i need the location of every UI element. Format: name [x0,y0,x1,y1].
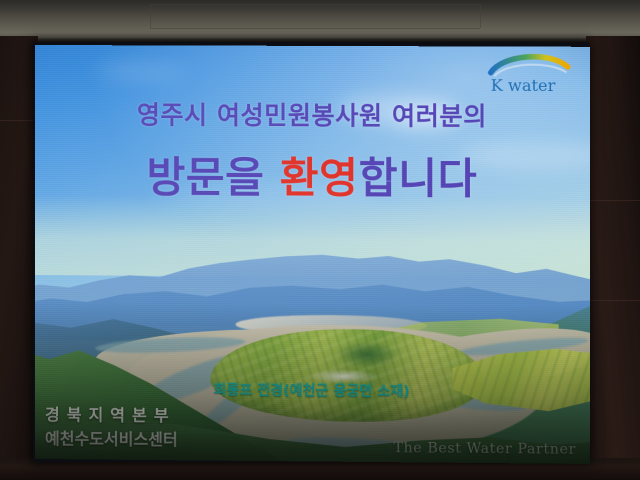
organization-center: 예천수도서비스센터 [45,427,178,452]
slide-title-line-1: 영주시 여성민원봉사원 여러분의 [35,95,590,133]
slide-tagline: The Best Water Partner [394,440,576,458]
wall-seam [0,120,34,121]
cloud [95,63,185,79]
ceiling-seam [150,28,480,29]
wall-seam [588,300,640,301]
slide-title-line-2: 방문을 환영합니다 [35,143,590,207]
k-water-logo-text: K water [491,76,556,95]
wall-right [586,36,640,480]
projector-screen: K water 영주시 여성민원봉사원 여러분의 방문을 환영합니다 회룡포 전… [35,45,590,464]
title-part-welcome: 환영 [280,153,359,203]
screenshot-root: K water 영주시 여성민원봉사원 여러분의 방문을 환영합니다 회룡포 전… [0,0,640,480]
title-part-suffix: 합니다 [359,154,478,204]
title-part-visit: 방문을 [147,153,280,203]
ceiling-seam [150,4,480,5]
ceiling-seam [150,4,151,28]
ceiling-seam [480,4,481,28]
wall-seam [588,200,640,201]
organization-block: 경북지역본부 예천수도서비스센터 [45,403,178,452]
organization-region: 경북지역본부 [45,403,178,428]
island-trees [336,341,399,368]
k-water-logo: K water [487,53,574,96]
ceiling [0,0,640,44]
